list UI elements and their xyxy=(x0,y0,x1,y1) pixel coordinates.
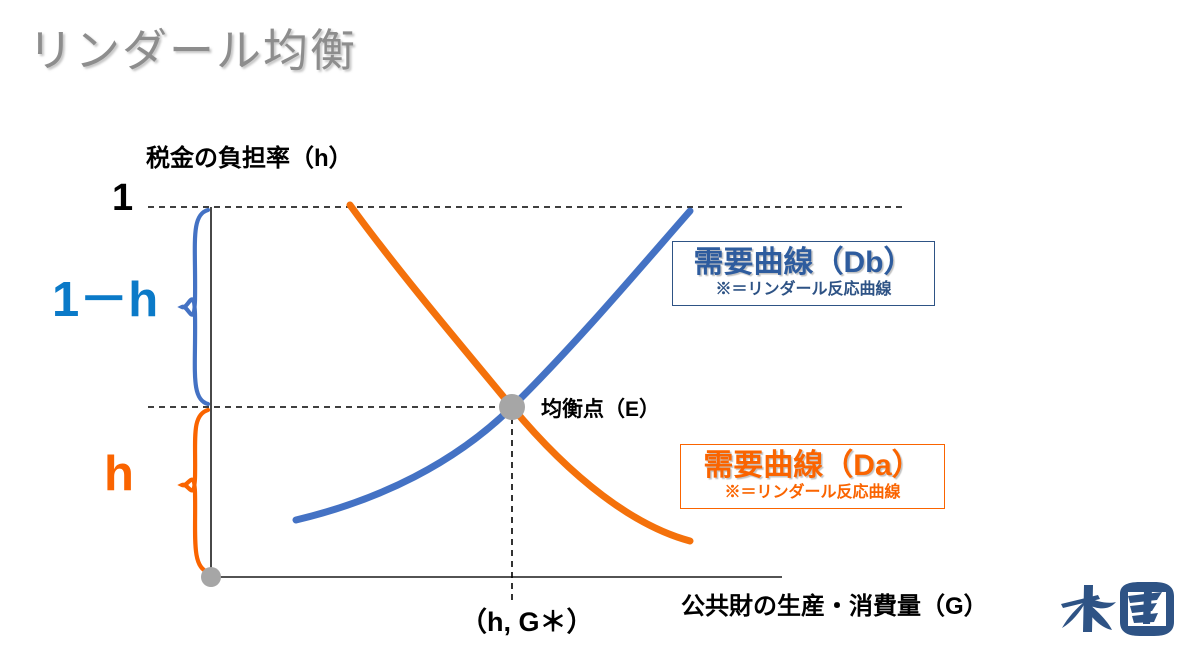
callout-da-subtitle: ※＝リンダール反応曲線 xyxy=(693,484,932,502)
brace-label-h: h xyxy=(104,450,134,499)
brace-upper-1minush xyxy=(182,210,208,404)
y-axis-tick-one: 1 xyxy=(112,179,133,217)
callout-da-title: 需要曲線（Da） xyxy=(693,449,932,483)
x-axis-label: 公共財の生産・消費量（G） xyxy=(681,586,988,621)
callout-demand-curve-db: 需要曲線（Db） ※＝リンダール反応曲線 xyxy=(672,241,935,306)
kida-logo-icon xyxy=(1058,578,1178,640)
y-axis-label: 税金の負担率（h） xyxy=(146,138,353,173)
callout-db-title: 需要曲線（Db） xyxy=(685,246,922,280)
x-axis-point-label: （h, G＊） xyxy=(460,600,594,639)
brace-label-one-minus-h: 1－h xyxy=(52,276,158,325)
curve-demand-da xyxy=(350,205,690,541)
callout-db-subtitle: ※＝リンダール反応曲線 xyxy=(685,281,922,299)
curve-demand-db xyxy=(296,211,690,520)
slide-canvas: リンダール均衡 税金の負担率（h） 公共財の生産・消費量（G） 1 （h, G＊… xyxy=(0,0,1189,663)
graph-canvas xyxy=(0,0,1189,663)
brace-lower-h xyxy=(182,410,208,572)
callout-demand-curve-da: 需要曲線（Da） ※＝リンダール反応曲線 xyxy=(680,444,945,509)
origin-point-marker xyxy=(201,567,221,587)
equilibrium-point-label: 均衡点（E） xyxy=(541,393,660,423)
equilibrium-point-marker xyxy=(499,394,525,420)
